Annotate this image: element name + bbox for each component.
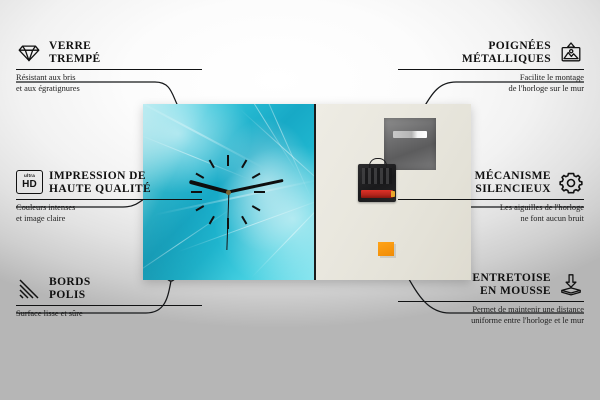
feature-title-line1: ENTRETOISE [472,272,551,285]
feature-header: ultra HD IMPRESSION DE HAUTE QUALITÉ [16,170,202,196]
feature-desc-line1: Surface lisse et sûre [16,309,202,319]
feature-desc-line2: et image claire [16,214,202,224]
feature-desc-line2: ne font aucun bruit [398,214,584,224]
clock-center-cap [226,190,231,195]
infographic-canvas: VERRE TREMPÉ Résistant aux bris et aux é… [0,0,600,400]
feature-title: BORDS POLIS [49,276,91,302]
feature-title: MÉCANISME SILENCIEUX [475,170,551,196]
feature-title-line2: TREMPÉ [49,53,101,66]
feature-title-line2: MÉTALLIQUES [462,53,551,66]
feature-desc-line2: de l'horloge sur le mur [398,84,584,94]
feature-title-line2: HAUTE QUALITÉ [49,183,151,196]
feature-title-line1: MÉCANISME [475,170,551,183]
feature-title: IMPRESSION DE HAUTE QUALITÉ [49,170,151,196]
feature-description: Les aiguilles de l'horloge ne font aucun… [398,203,584,223]
ultra-hd-main-text: HD [22,180,37,190]
gear-icon [558,170,584,196]
feature-description: Permet de maintenir une distance uniform… [398,305,584,325]
feature-title: POIGNÉES MÉTALLIQUES [462,40,551,66]
feature-title: VERRE TREMPÉ [49,40,101,66]
mechanism-grille [362,168,392,184]
ultra-hd-icon: ultra HD [16,170,42,196]
feature-description: Couleurs intenses et image claire [16,203,202,223]
hanger-slot [393,131,427,138]
polished-edge-icon [16,276,42,302]
foam-spacer-icon [558,272,584,298]
feature-header: VERRE TREMPÉ [16,40,202,66]
feature-title-line2: POLIS [49,289,91,302]
hanging-frame-icon [558,40,584,66]
diamond-icon [16,40,42,66]
feature-title-line2: EN MOUSSE [472,285,551,298]
feature-entretoise-en-mousse: ENTRETOISE EN MOUSSE Permet de maintenir… [398,272,584,326]
feature-header: POIGNÉES MÉTALLIQUES [398,40,584,66]
feature-title-line1: BORDS [49,276,91,289]
feature-title: ENTRETOISE EN MOUSSE [472,272,551,298]
feature-divider [16,305,202,306]
foam-spacer [378,242,394,256]
feature-desc-line1: Permet de maintenir une distance [398,305,584,315]
feature-desc-line2: uniforme entre l'horloge et le mur [398,316,584,326]
battery-terminal [391,191,395,197]
feature-header: BORDS POLIS [16,276,202,302]
feature-title-line1: VERRE [49,40,101,53]
feature-divider [398,69,584,70]
feature-header: MÉCANISME SILENCIEUX [398,170,584,196]
feature-title-line1: POIGNÉES [462,40,551,53]
feature-description: Facilite le montage de l'horloge sur le … [398,73,584,93]
clock-mechanism [358,164,396,202]
feature-mecanisme-silencieux: MÉCANISME SILENCIEUX Les aiguilles de l'… [398,170,584,224]
metal-hanger-plate [384,118,436,170]
feature-description: Surface lisse et sûre [16,309,202,319]
feature-desc-line1: Facilite le montage [398,73,584,83]
feature-title-line1: IMPRESSION DE [49,170,151,183]
battery [361,190,393,198]
feature-divider [398,199,584,200]
feature-verre-trempe: VERRE TREMPÉ Résistant aux bris et aux é… [16,40,202,94]
feature-desc-line2: et aux égratignures [16,84,202,94]
feature-impression-hd: ultra HD IMPRESSION DE HAUTE QUALITÉ Cou… [16,170,202,224]
feature-desc-line1: Couleurs intenses [16,203,202,213]
feature-desc-line1: Les aiguilles de l'horloge [398,203,584,213]
feature-divider [16,199,202,200]
feature-poignees-metalliques: POIGNÉES MÉTALLIQUES Facilite le montage… [398,40,584,94]
feature-title-line2: SILENCIEUX [475,183,551,196]
feature-divider [398,301,584,302]
feature-header: ENTRETOISE EN MOUSSE [398,272,584,298]
mechanism-hanger-loop [369,158,387,168]
feature-divider [16,69,202,70]
feature-bords-polis: BORDS POLIS Surface lisse et sûre [16,276,202,320]
feature-description: Résistant aux bris et aux égratignures [16,73,202,93]
feature-desc-line1: Résistant aux bris [16,73,202,83]
